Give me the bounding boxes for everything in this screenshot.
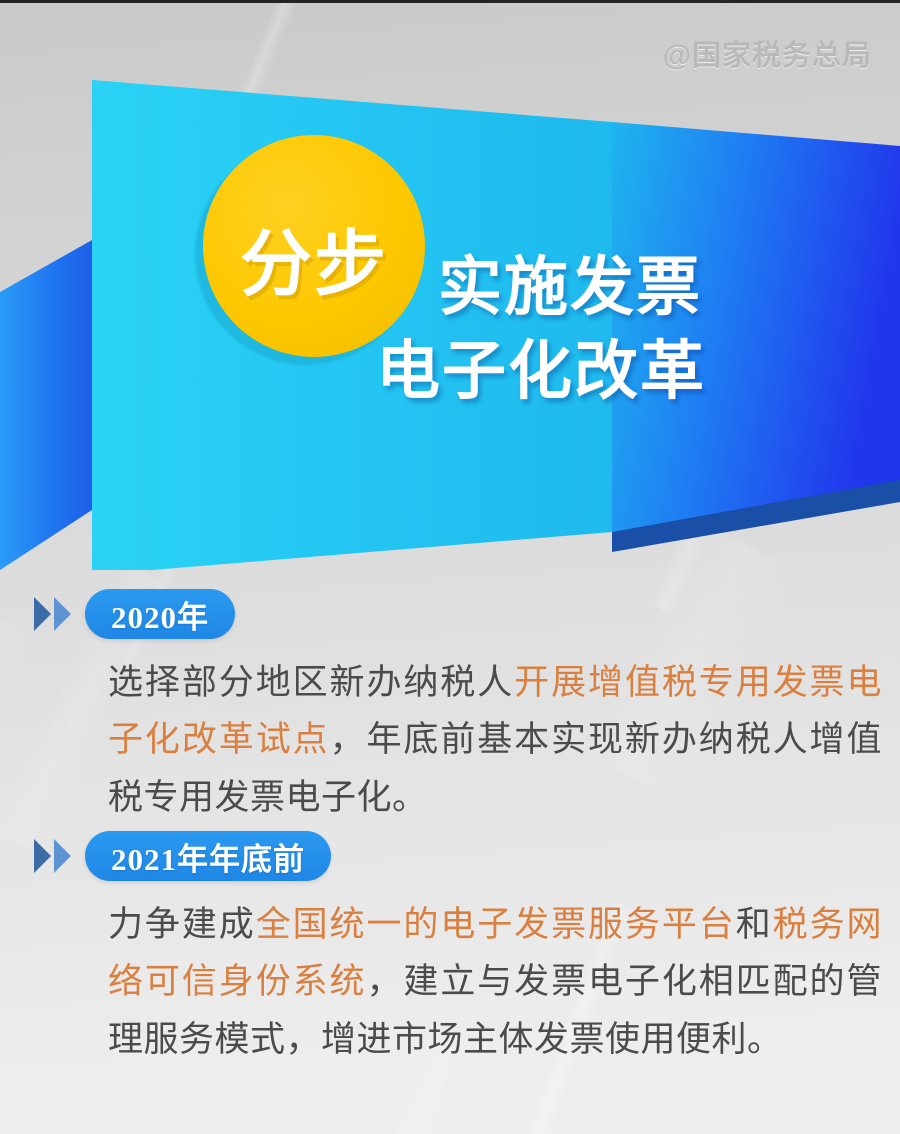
banner-title-line-2: 电子化改革 — [376, 329, 838, 413]
banner-ribbon: 分步 实施发票 电子化改革 — [0, 70, 900, 570]
year-badge[interactable]: 2020年 — [85, 589, 235, 639]
banner-title: 实施发票 电子化改革 — [438, 245, 838, 414]
timeline-section-2021: 2021年年底前 力争建成全国统一的电子发票服务平台和税务网络可信身份系统，建立… — [0, 828, 900, 1068]
double-chevron-right-icon — [34, 839, 71, 873]
speech-bubble-label: 分步 — [203, 135, 425, 357]
text-run: 力争建成 — [108, 905, 256, 944]
infographic-poster: @国家税务总局 — [0, 0, 900, 1134]
highlighted-text-run: 全国统一的电子发票服务平台 — [256, 905, 736, 944]
section-header: 2021年年底前 — [0, 828, 900, 884]
banner-title-line-1: 实施发票 — [438, 245, 838, 329]
speech-bubble: 分步 — [203, 135, 425, 357]
banner-left-tail — [0, 240, 92, 570]
top-divider-rule — [0, 0, 900, 3]
section-body-text: 力争建成全国统一的电子发票服务平台和税务网络可信身份系统，建立与发票电子化相匹配… — [108, 896, 882, 1068]
source-watermark: @国家税务总局 — [663, 32, 872, 74]
text-run: 选择部分地区新办纳税人 — [108, 663, 514, 702]
year-badge[interactable]: 2021年年底前 — [85, 831, 331, 881]
section-header: 2020年 — [0, 586, 900, 642]
chevron-right-icon-light — [54, 839, 71, 873]
chevron-right-icon-dark — [34, 597, 51, 631]
chevron-right-icon-light — [54, 597, 71, 631]
text-run: 和 — [736, 905, 773, 944]
timeline-section-2020: 2020年 选择部分地区新办纳税人开展增值税专用发票电子化改革试点，年底前基本实… — [0, 586, 900, 826]
double-chevron-right-icon — [34, 597, 71, 631]
section-body-text: 选择部分地区新办纳税人开展增值税专用发票电子化改革试点，年底前基本实现新办纳税人… — [108, 654, 882, 826]
chevron-right-icon-dark — [34, 839, 51, 873]
